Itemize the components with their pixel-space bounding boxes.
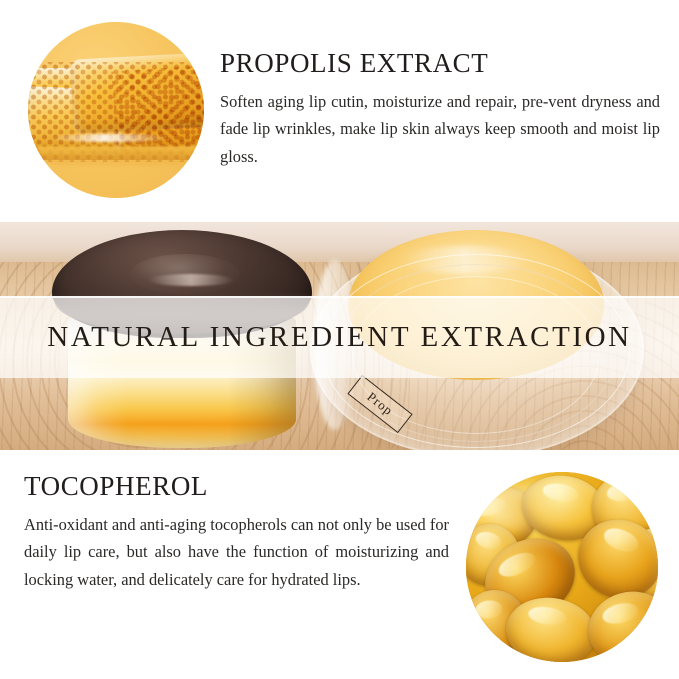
section-propolis-extract: PROPOLIS EXTRACT Soften aging lip cutin,… (0, 0, 679, 222)
banner-natural-ingredient: Prop NATURAL INGREDIENT EXTRACTION (0, 222, 679, 450)
softgel-capsules-image (466, 472, 658, 662)
jar-left-lid-highlight (148, 274, 234, 286)
propolis-heading: PROPOLIS EXTRACT (220, 49, 660, 79)
tocopherol-body-text: Anti-oxidant and anti-aging tocopherols … (24, 511, 449, 594)
propolis-text-block: PROPOLIS EXTRACT Soften aging lip cutin,… (220, 49, 660, 170)
tocopherol-text-block: TOCOPHEROL Anti-oxidant and anti-aging t… (24, 472, 449, 593)
banner-headline: NATURAL INGREDIENT EXTRACTION (0, 296, 679, 378)
honeycomb-image (28, 22, 204, 198)
propolis-body-text: Soften aging lip cutin, moisturize and r… (220, 88, 660, 171)
capsules-sheen (486, 482, 606, 534)
section-tocopherol: TOCOPHEROL Anti-oxidant and anti-aging t… (0, 450, 679, 679)
honeycomb-gloss-highlight (50, 134, 170, 142)
infographic-page: PROPOLIS EXTRACT Soften aging lip cutin,… (0, 0, 679, 679)
honey-drip (38, 146, 204, 168)
tocopherol-heading: TOCOPHEROL (24, 472, 449, 502)
